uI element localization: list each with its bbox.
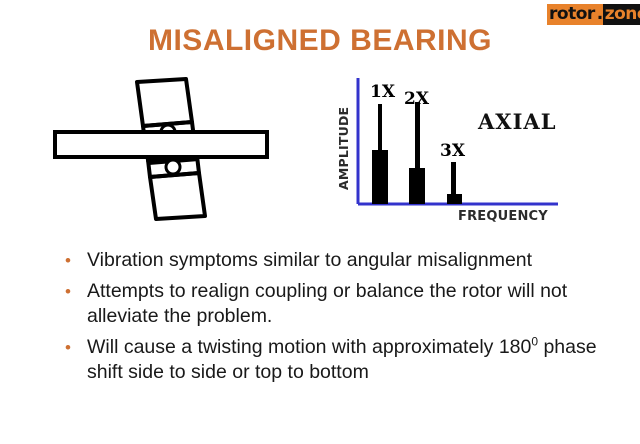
logo-word-rotor: rotor [547, 4, 597, 25]
bar-label-1x: 1X [370, 82, 396, 102]
bearing-drawing-svg [50, 70, 290, 225]
bullet-text-3-prefix: Will cause a twisting motion with approx… [87, 336, 531, 358]
bar-label-3x: 3X [440, 141, 466, 161]
bar-1x [372, 104, 388, 204]
page-title: MISALIGNED BEARING [0, 24, 640, 58]
axial-annotation: AXIAL [477, 109, 556, 134]
bullet-dot-icon: • [62, 248, 87, 273]
bullet-text-2: Attempts to realign coupling or balance … [87, 279, 602, 329]
y-axis-label: AMPLITUDE [336, 107, 351, 190]
bullet-dot-icon: • [62, 279, 87, 304]
bullet-text-1: Vibration symptoms similar to angular mi… [87, 248, 602, 273]
x-axis-label: FREQUENCY [458, 209, 548, 224]
list-item: • Vibration symptoms similar to angular … [62, 248, 602, 273]
bar-label-2x: 2X [404, 89, 430, 109]
bullet-dot-icon: • [62, 335, 87, 360]
rolling-element-lower [166, 160, 180, 174]
rotor-zone-logo[interactable]: rotor . zone [547, 4, 640, 25]
bar-2x [409, 102, 425, 204]
shaft-through-hub [146, 134, 194, 155]
spectrum-svg: 1X 2X 3X AXIAL AMPLITUDE FREQUENCY [330, 72, 565, 227]
axial-vibration-spectrum-chart: 1X 2X 3X AXIAL AMPLITUDE FREQUENCY [330, 72, 565, 227]
logo-word-zone: zone [603, 4, 640, 25]
bar-3x [447, 162, 462, 204]
misaligned-bearing-diagram [50, 70, 290, 225]
list-item: • Attempts to realign coupling or balanc… [62, 279, 602, 329]
bullet-text-3: Will cause a twisting motion with approx… [87, 335, 602, 385]
list-item: • Will cause a twisting motion with appr… [62, 335, 602, 385]
bullet-list: • Vibration symptoms similar to angular … [62, 248, 602, 391]
